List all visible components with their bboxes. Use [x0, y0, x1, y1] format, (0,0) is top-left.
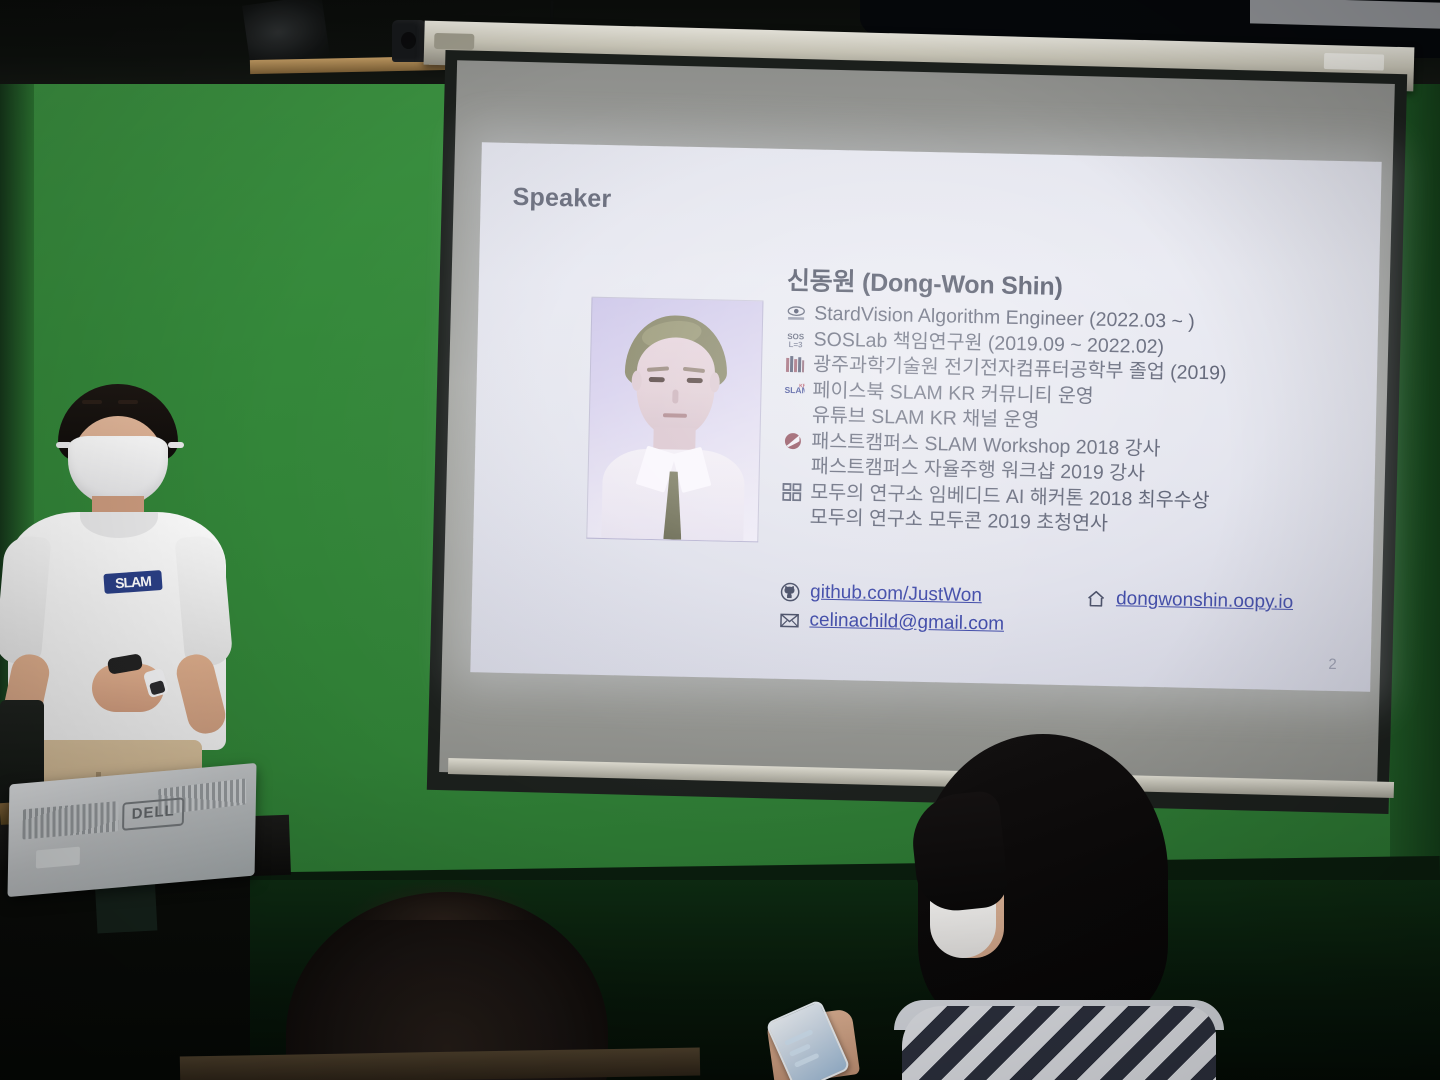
ceiling-cables [242, 0, 330, 67]
audience-left-hair-wisp [348, 880, 538, 920]
presenter-eye-right [118, 400, 138, 404]
soslab-icon: SOS L=3 [785, 329, 805, 347]
housing-endcap [434, 33, 474, 50]
face-mask [68, 436, 168, 504]
tshirt-slam-logo: SLAM [103, 570, 162, 594]
projected-slide-area: Speaker 신동원 (Dong-Wo [470, 142, 1381, 692]
portrait-eye-right [687, 378, 703, 383]
portrait-ear-right [709, 372, 719, 392]
github-link[interactable]: github.com/JustWon [810, 580, 982, 610]
fastcampus-icon [783, 431, 803, 449]
phone-screen-line-3 [794, 1053, 820, 1068]
speaker-bio: 신동원 (Dong-Won Shin) StardVision Algorith… [781, 261, 1347, 543]
svg-text:KR: KR [799, 383, 805, 389]
ptz-camera-icon [392, 20, 426, 62]
list-item-label: 유튜브 SLAM KR 채널 운영 [812, 405, 1040, 432]
list-item-label: 페이스북 SLAM KR 커뮤니티 운영 [812, 379, 1094, 407]
portrait-face [636, 337, 716, 437]
github-icon [780, 582, 800, 602]
mask-strap-right [168, 442, 184, 448]
svg-text:L=3: L=3 [788, 339, 803, 347]
list-item-label: 모두의 연구소 모두콘 2019 초청연사 [810, 506, 1109, 535]
page-title: Speaker [512, 183, 611, 214]
contact-links: github.com/JustWon dongwonshin.oopy.io [779, 579, 1381, 649]
presenter-sleeve-right [174, 534, 233, 668]
home-icon [1086, 589, 1106, 609]
slide-page-number: 2 [1328, 656, 1337, 673]
monitor-spec-label [36, 847, 80, 869]
audience-right-chevron-top [902, 1006, 1216, 1080]
slide: Speaker 신동원 (Dong-Wo [470, 142, 1381, 692]
portrait-mouth [663, 413, 687, 418]
speaker-portrait-photo [586, 297, 763, 543]
portrait-nose [672, 389, 678, 403]
homepage-link[interactable]: dongwonshin.oopy.io [1116, 586, 1294, 616]
stradvision-eye-icon [786, 304, 806, 322]
audience-right [886, 734, 1216, 1080]
slam-kr-icon: SLAM KR [784, 380, 804, 398]
modulabs-icon [782, 482, 802, 500]
presenter-eye-left [82, 400, 102, 404]
gist-building-icon [785, 355, 805, 373]
portrait-eye-left [649, 377, 665, 382]
housing-label [1324, 53, 1384, 71]
bio-list: StardVision Algorithm Engineer (2022.03 … [781, 301, 1346, 543]
email-link[interactable]: celinachild@gmail.com [809, 608, 1004, 638]
dell-monitor-rear: DELL [7, 763, 256, 897]
lecture-room-photo: Speaker 신동원 (Dong-Wo [0, 0, 1440, 1080]
monitor-brand-logo: DELL [122, 797, 184, 831]
phone-screen-line-2 [789, 1043, 811, 1057]
monitor-vent-left [22, 801, 118, 840]
envelope-icon [779, 610, 799, 630]
